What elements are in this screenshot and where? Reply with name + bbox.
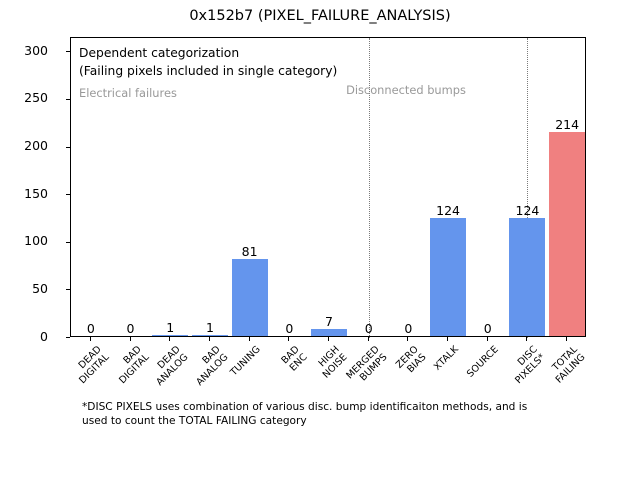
x-axis-tick-mark	[526, 337, 527, 341]
x-axis-tick-mark	[169, 337, 170, 341]
bar-value-label: 214	[532, 119, 602, 132]
x-axis-tick-mark	[90, 337, 91, 341]
bar[interactable]	[152, 335, 188, 336]
x-axis-tick-mark	[487, 337, 488, 341]
y-axis-tick-label: 200	[0, 140, 48, 153]
annotation-disconnected-bumps: Disconnected bumps	[331, 84, 481, 98]
bar[interactable]	[549, 132, 585, 336]
bar-value-label: 81	[215, 246, 285, 259]
annotation-dependent-line1: Dependent categorization	[79, 46, 239, 60]
y-axis-tick-label: 250	[0, 92, 48, 105]
y-axis-tick-mark	[66, 337, 70, 338]
bar-value-label: 124	[413, 205, 483, 218]
chart-title: 0x152b7 (PIXEL_FAILURE_ANALYSIS)	[0, 8, 640, 24]
plot-area: Dependent categorization (Failing pixels…	[70, 37, 586, 337]
chart-footnote: *DISC PIXELS uses combination of various…	[82, 400, 602, 429]
annotation-dependent-line2: (Failing pixels included in single categ…	[79, 64, 337, 78]
x-axis-tick-mark	[407, 337, 408, 341]
x-axis-tick-mark	[249, 337, 250, 341]
x-axis-tick-mark	[368, 337, 369, 341]
bar[interactable]	[509, 218, 545, 336]
y-axis-tick-label: 100	[0, 235, 48, 248]
bar[interactable]	[430, 218, 466, 336]
y-axis-tick-label: 300	[0, 45, 48, 58]
figure-canvas: 0x152b7 (PIXEL_FAILURE_ANALYSIS) Number …	[0, 0, 640, 480]
y-axis-tick-label: 0	[0, 331, 48, 344]
y-axis-tick-label: 150	[0, 188, 48, 201]
x-axis-tick-mark	[447, 337, 448, 341]
x-axis-tick-mark	[209, 337, 210, 341]
x-axis-tick-mark	[566, 337, 567, 341]
x-axis-tick-mark	[288, 337, 289, 341]
category-divider	[369, 38, 370, 338]
annotation-electrical-failures: Electrical failures	[79, 86, 177, 100]
x-axis-tick-mark	[328, 337, 329, 341]
y-axis-tick-label: 50	[0, 283, 48, 296]
bar[interactable]	[192, 335, 228, 336]
x-axis-tick-mark	[130, 337, 131, 341]
